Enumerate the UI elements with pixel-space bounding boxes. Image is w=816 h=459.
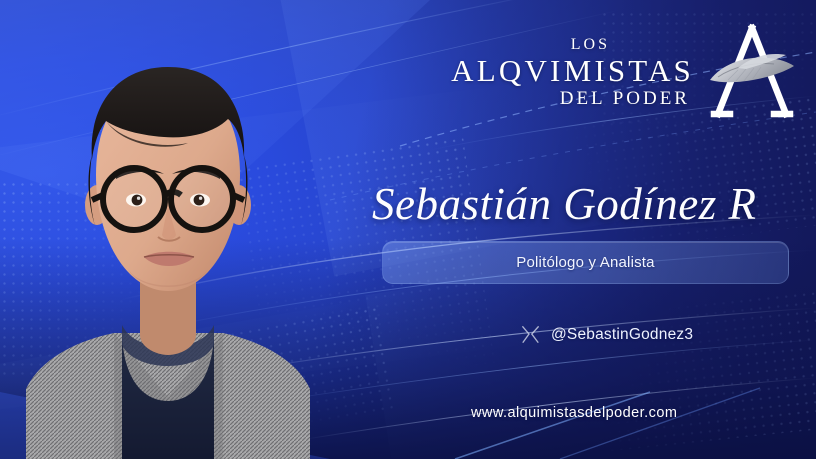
monogram-a-with-feather-icon <box>704 22 800 122</box>
channel-logo: LOS ALQVIMISTAS DEL PODER <box>451 22 800 122</box>
guest-role-bar: Politólogo y Analista <box>382 241 789 284</box>
guest-role-text: Politólogo y Analista <box>516 254 654 271</box>
social-handle-text[interactable]: @SebastinGodnez3 <box>551 326 693 344</box>
guest-portrait <box>18 29 318 459</box>
broadcast-lower-third-graphic: LOS ALQVIMISTAS DEL PODER <box>0 0 816 459</box>
logo-line-los: LOS <box>571 37 610 53</box>
logo-line-alqvimistas: ALQVIMISTAS <box>451 55 694 86</box>
feather-quill-icon <box>710 54 794 82</box>
website-url[interactable]: www.alquimistasdelpoder.com <box>471 405 677 421</box>
x-twitter-icon[interactable] <box>521 325 540 344</box>
guest-name: Sebastián Godínez R <box>372 178 756 230</box>
logo-wordmark: LOS ALQVIMISTAS DEL PODER <box>451 37 694 108</box>
social-handle-group[interactable]: @SebastinGodnez3 <box>521 325 693 344</box>
logo-line-del-poder: DEL PODER <box>560 89 690 108</box>
